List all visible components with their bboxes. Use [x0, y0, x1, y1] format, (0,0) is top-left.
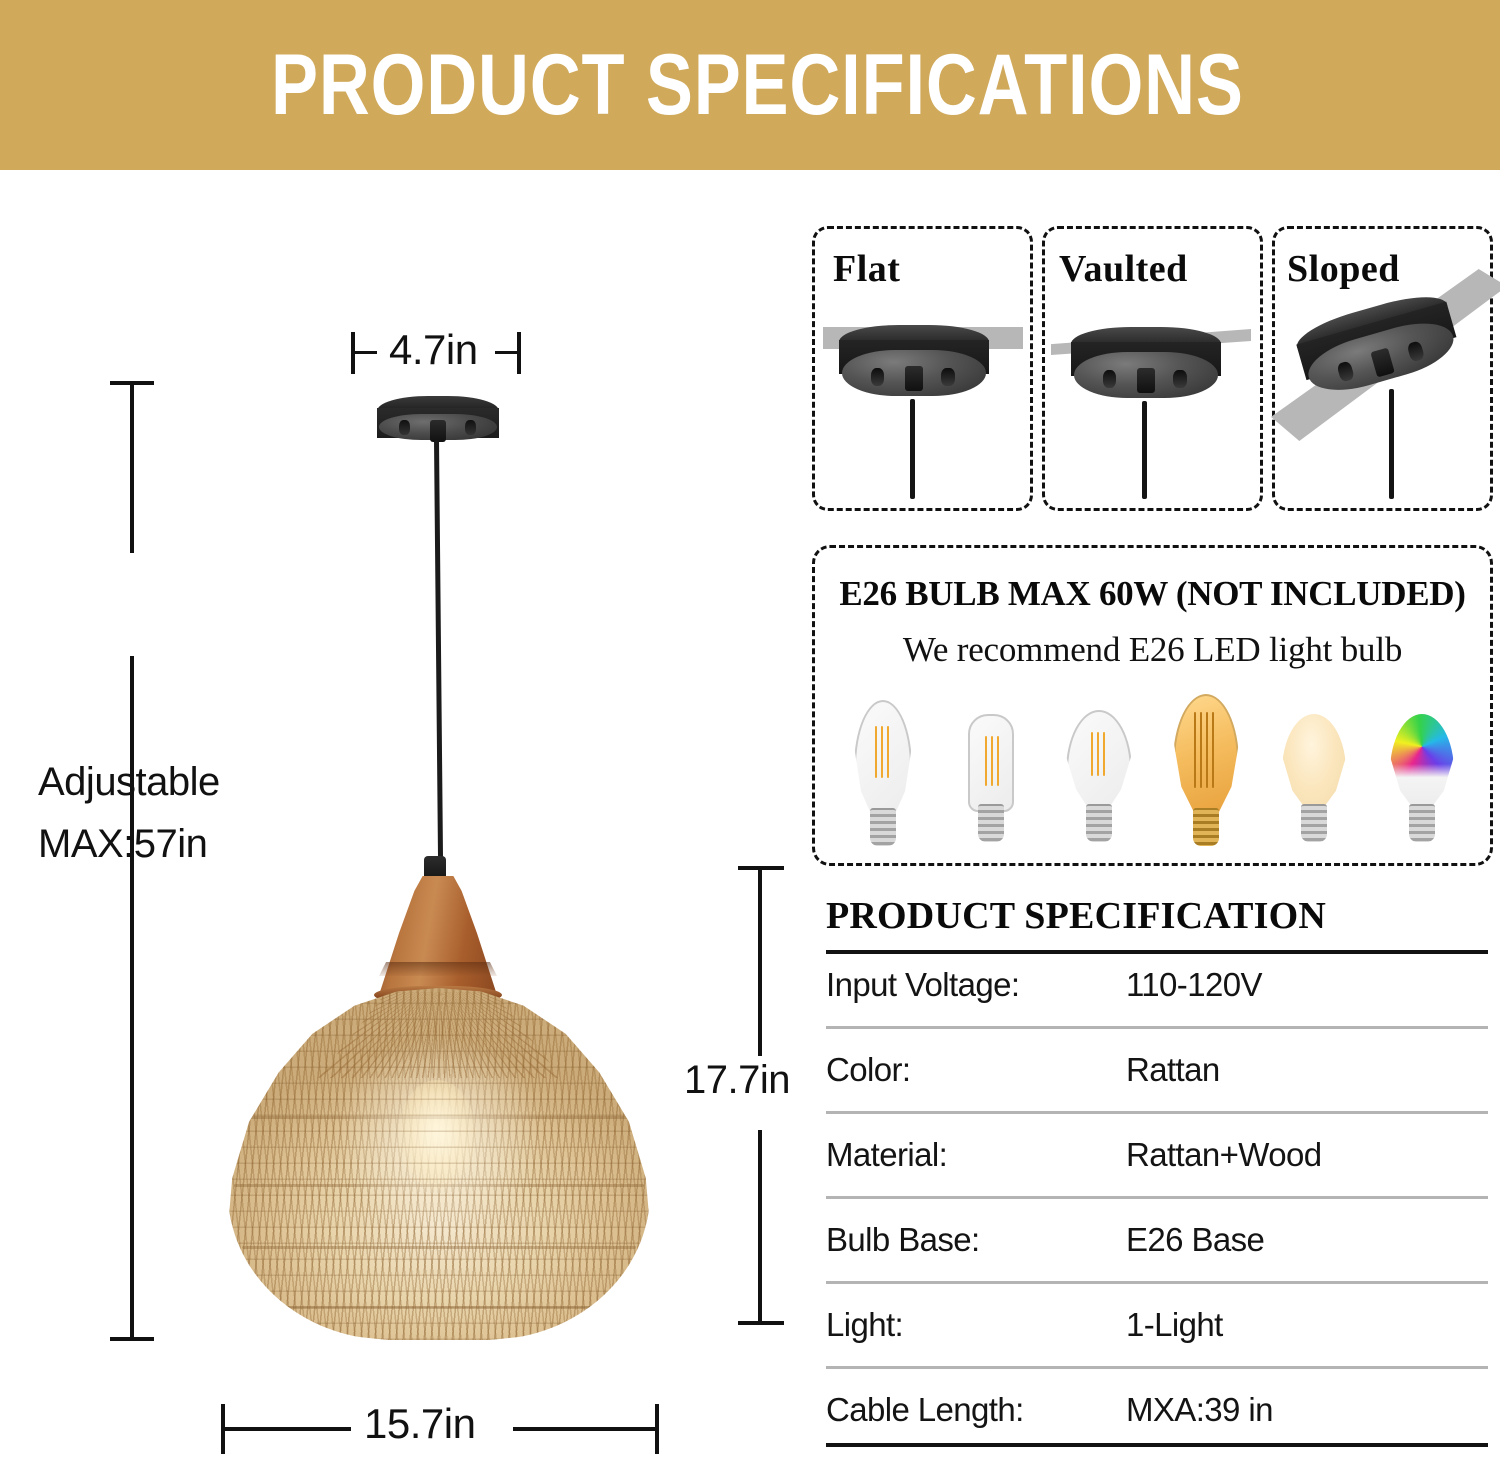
spec-table: Input Voltage: 110-120V Color: Rattan Ma…	[826, 944, 1488, 1451]
bulb-e26-base	[1086, 804, 1112, 842]
wood-cone-top	[379, 876, 497, 1000]
dim-line-adjustable-upper	[130, 381, 134, 553]
canopy-cord-nut	[1137, 368, 1155, 393]
bulb-e26-base	[1301, 804, 1327, 842]
spec-table-title: PRODUCT SPECIFICATION	[826, 894, 1326, 938]
spec-value: Rattan+Wood	[1126, 1136, 1322, 1174]
sloped-cord	[1389, 389, 1394, 499]
filament	[985, 736, 987, 786]
a19-clear-filament-bulb-icon	[1055, 694, 1143, 846]
dim-line-bottom-b	[513, 1427, 657, 1431]
rattan-shade-fan	[318, 992, 562, 1078]
canopy-screw-left	[871, 368, 885, 386]
filament	[1091, 732, 1093, 776]
mount-label-sloped: Sloped	[1287, 247, 1400, 291]
shade-hoop-4	[272, 1306, 606, 1309]
spec-key: Bulb Base:	[826, 1221, 1126, 1259]
mount-option-sloped[interactable]: Sloped	[1272, 226, 1493, 511]
spec-table-bottom-rule	[826, 1443, 1488, 1447]
vaulted-canopy	[1071, 327, 1221, 409]
dim-line-bottom-a	[221, 1427, 351, 1431]
dim-label-width-top: 4.7in	[389, 326, 478, 374]
canopy-screw-right	[1173, 370, 1187, 388]
bulb-glass	[1066, 710, 1132, 812]
canopy-cord-nut	[905, 366, 923, 391]
ceiling-canopy	[377, 396, 499, 442]
table-row: Input Voltage: 110-120V	[826, 944, 1488, 1029]
dim-label-adjustable-max: MAX:57in	[38, 822, 207, 867]
dim-cap-shade-bottom	[738, 1321, 784, 1325]
a19-rgb-smart-bulb-icon	[1378, 694, 1466, 846]
filament	[1097, 732, 1099, 776]
dim-label-shade-width: 15.7in	[364, 1400, 475, 1448]
st64-clear-filament-bulb-icon	[839, 694, 927, 846]
dim-label-shade-height: 17.7in	[684, 1058, 790, 1103]
filament	[1103, 732, 1105, 776]
spec-value: 110-120V	[1126, 966, 1262, 1004]
dim-line-shade-upper	[758, 866, 762, 1056]
dim-cap-adjustable-bottom	[110, 1337, 154, 1341]
filament	[887, 726, 889, 778]
mount-option-vaulted[interactable]: Vaulted	[1042, 226, 1263, 511]
bulb-e26-base	[1409, 804, 1435, 842]
shade-hoop-3	[242, 1246, 636, 1249]
t45-tubular-filament-bulb-icon	[947, 694, 1035, 846]
canopy-screw-left	[399, 420, 410, 435]
dim-label-adjustable: Adjustable	[38, 760, 220, 805]
spec-key: Cable Length:	[826, 1391, 1126, 1429]
shade-hoop-2	[234, 1184, 644, 1187]
bulb-glass	[854, 700, 912, 820]
spec-value: MXA:39 in	[1126, 1391, 1273, 1429]
spec-key: Light:	[826, 1306, 1126, 1344]
spec-key: Input Voltage:	[826, 966, 1126, 1004]
hanging-cord	[434, 440, 443, 870]
spec-value: Rattan	[1126, 1051, 1220, 1089]
spec-key: Color:	[826, 1051, 1126, 1089]
bulb-panel-heading: E26 BULB MAX 60W (NOT INCLUDED)	[815, 574, 1490, 614]
bulb-e26-base	[870, 808, 896, 846]
bulb-e26-base	[978, 804, 1004, 842]
canopy-screw-left	[1103, 370, 1117, 388]
lamp-diagram: 4.7in Adjustable MAX:57in 15.7in 17.7in	[0, 0, 760, 1473]
filament	[991, 736, 993, 786]
spec-value: 1-Light	[1126, 1306, 1223, 1344]
filament	[997, 736, 999, 786]
table-row: Light: 1-Light	[826, 1284, 1488, 1369]
table-row: Bulb Base: E26 Base	[826, 1199, 1488, 1284]
bulb-icon-row	[839, 688, 1466, 846]
sloped-canopy	[1292, 287, 1466, 413]
dim-line-adjustable-lower	[130, 656, 134, 1340]
bulb-glass	[1282, 714, 1346, 810]
inner-bulb-glow	[398, 1080, 476, 1190]
filament	[881, 726, 883, 778]
filament	[875, 726, 877, 778]
dim-line-shade-lower	[758, 1130, 762, 1324]
canopy-cord-nut	[430, 420, 446, 442]
mount-label-vaulted: Vaulted	[1059, 247, 1188, 291]
vaulted-cord	[1142, 401, 1147, 499]
st64-amber-vintage-bulb-icon	[1162, 694, 1250, 846]
bulb-panel-subheading: We recommend E26 LED light bulb	[815, 630, 1490, 670]
spec-value: E26 Base	[1126, 1221, 1264, 1259]
spec-key: Material:	[826, 1136, 1126, 1174]
product-spec-sheet: PRODUCT SPECIFICATIONS 4.7in Adjustable …	[0, 0, 1500, 1473]
flat-cord	[910, 399, 915, 499]
dim-line-top-a	[351, 351, 377, 354]
canopy-screw-right	[465, 420, 476, 435]
table-row: Cable Length: MXA:39 in	[826, 1369, 1488, 1451]
mount-option-flat[interactable]: Flat	[812, 226, 1033, 511]
wood-cone-band	[379, 962, 497, 976]
a19-frosted-warm-bulb-icon	[1270, 694, 1358, 846]
bulb-glass	[1390, 714, 1454, 810]
dim-line-top-b	[495, 351, 519, 354]
flat-canopy	[839, 325, 989, 407]
table-row: Color: Rattan	[826, 1029, 1488, 1114]
mount-label-flat: Flat	[833, 247, 900, 291]
bulb-e26-base	[1193, 808, 1219, 846]
shade-hoop-1	[244, 1116, 634, 1119]
table-row: Material: Rattan+Wood	[826, 1114, 1488, 1199]
canopy-screw-right	[941, 368, 955, 386]
bulb-recommendation-panel: E26 BULB MAX 60W (NOT INCLUDED) We recom…	[812, 545, 1493, 866]
